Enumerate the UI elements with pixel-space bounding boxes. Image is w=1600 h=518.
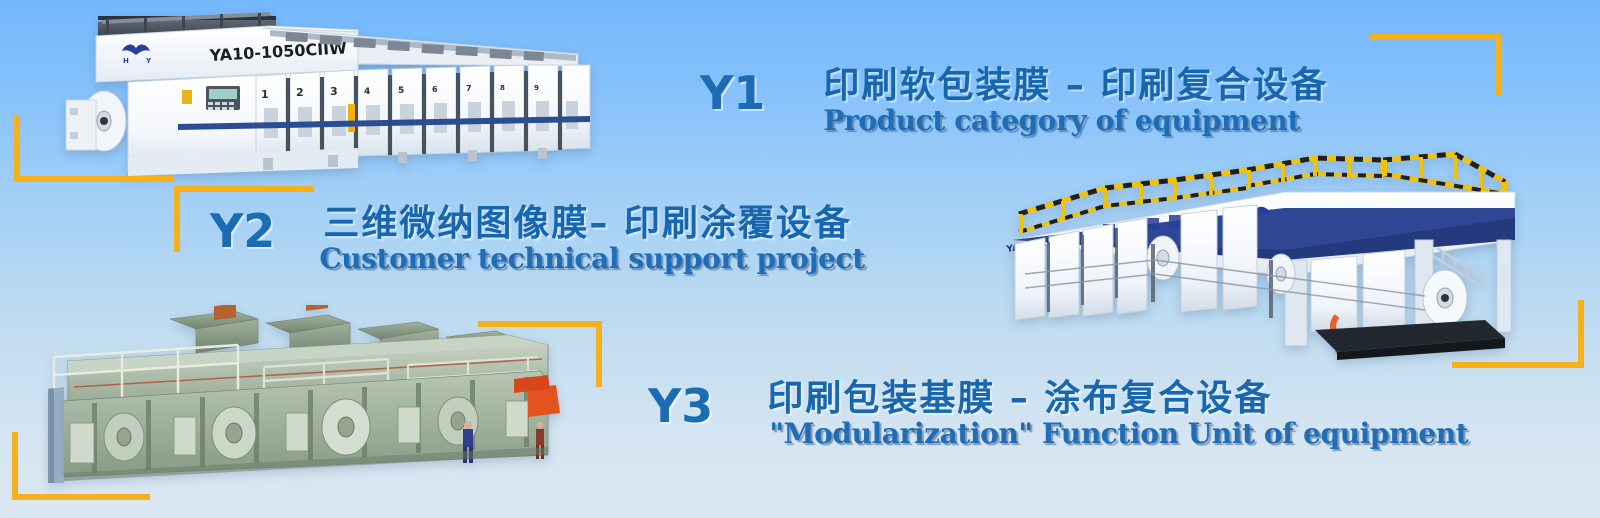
svg-text:8: 8 bbox=[500, 84, 505, 92]
entry-y1-subtitle-en: Product category of equipment bbox=[823, 106, 1328, 137]
entry-y1: Y1 印刷软包装膜 – 印刷复合设备 Product category of e… bbox=[700, 70, 1328, 137]
entry-y1-code: Y1 bbox=[700, 70, 765, 116]
corner-bracket-top-left bbox=[14, 116, 174, 182]
svg-text:9: 9 bbox=[534, 84, 539, 92]
machine-image-coating-laminating-machine: YATF6-1650BII bbox=[985, 148, 1525, 363]
corner-bracket-bottom-left bbox=[12, 432, 150, 500]
corner-bracket-bottom-right bbox=[1452, 300, 1584, 368]
entry-y2-title-cn: 三维微纳图像膜– 印刷涂覆设备 bbox=[323, 204, 864, 244]
svg-text:1: 1 bbox=[261, 88, 269, 101]
corner-bracket-top-right bbox=[1370, 34, 1502, 96]
svg-text:H: H bbox=[123, 57, 129, 65]
svg-text:4: 4 bbox=[364, 87, 370, 97]
svg-text:7: 7 bbox=[466, 84, 472, 93]
svg-text:Y: Y bbox=[145, 57, 152, 65]
entry-y3-title-cn: 印刷包装基膜 – 涂布复合设备 bbox=[767, 379, 1468, 419]
svg-text:6: 6 bbox=[432, 85, 438, 94]
entry-y3-subtitle-en: "Modularization" Function Unit of equipm… bbox=[769, 419, 1468, 450]
entry-y3: Y3 印刷包装基膜 – 涂布复合设备 "Modularization" Func… bbox=[648, 383, 1468, 450]
entry-y2: Y2 三维微纳图像膜– 印刷涂覆设备 Customer technical su… bbox=[210, 208, 865, 275]
entry-y3-code: Y3 bbox=[648, 383, 713, 429]
entry-y2-subtitle-en: Customer technical support project bbox=[319, 244, 864, 275]
entry-y2-code: Y2 bbox=[210, 208, 275, 254]
svg-text:5: 5 bbox=[398, 86, 404, 96]
product-category-banner: H Y YA10-1050CIIW bbox=[0, 0, 1600, 518]
entry-y1-title-cn: 印刷软包装膜 – 印刷复合设备 bbox=[823, 66, 1328, 106]
svg-text:3: 3 bbox=[330, 85, 338, 98]
svg-text:2: 2 bbox=[296, 86, 304, 99]
corner-bracket-mid-right bbox=[478, 321, 602, 387]
